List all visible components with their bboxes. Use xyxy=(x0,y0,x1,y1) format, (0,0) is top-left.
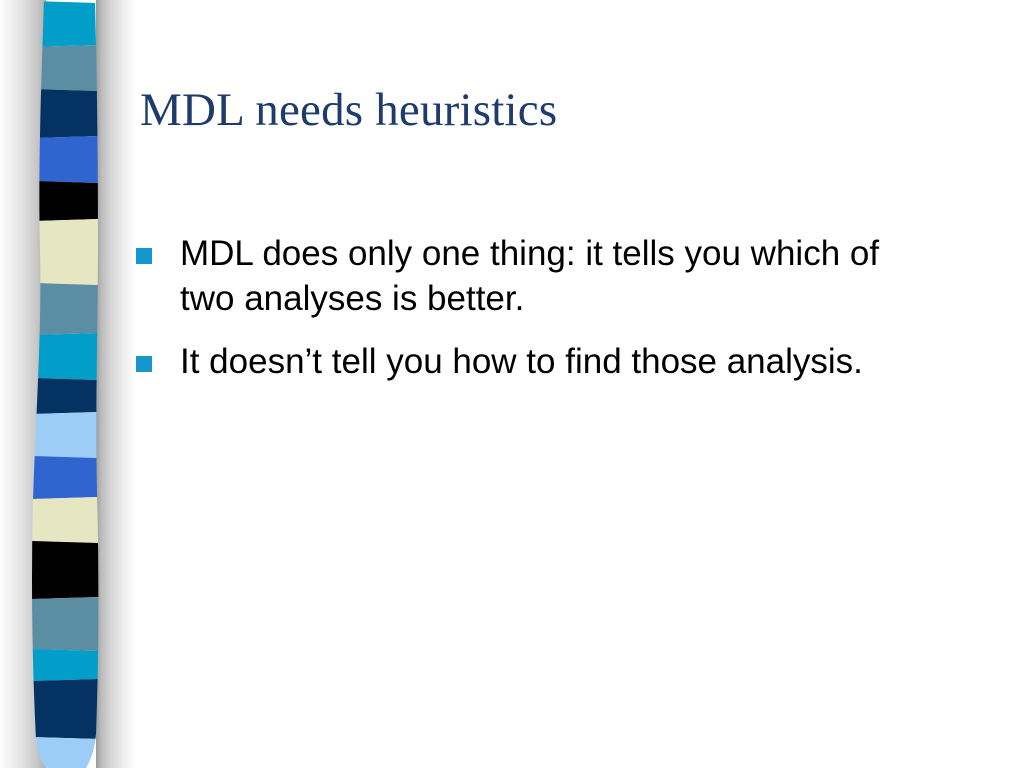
ribbon-band xyxy=(0,135,132,184)
ribbon-band xyxy=(0,0,132,48)
list-item: It doesn’t tell you how to find those an… xyxy=(136,340,956,385)
color-band-ribbon xyxy=(0,0,132,768)
ribbon-band xyxy=(0,180,132,222)
bullet-list: MDL does only one thing: it tells you wh… xyxy=(136,232,956,402)
ribbon-band xyxy=(0,648,132,682)
ribbon-band xyxy=(0,496,132,544)
ribbon-band xyxy=(0,218,132,286)
left-decoration xyxy=(0,0,132,768)
ribbon-band xyxy=(0,455,132,500)
ribbon-band xyxy=(0,411,132,459)
ribbon-band xyxy=(0,88,132,139)
ribbon-band xyxy=(0,332,132,381)
ribbon-band xyxy=(0,596,132,652)
list-item: MDL does only one thing: it tells you wh… xyxy=(136,232,956,322)
bullet-text: MDL does only one thing: it tells you wh… xyxy=(180,232,920,322)
ribbon-band xyxy=(0,540,132,600)
ribbon-band xyxy=(0,44,132,92)
slide-canvas: MDL needs heuristics MDL does only one t… xyxy=(0,0,1024,768)
ribbon-band xyxy=(0,282,132,336)
bullet-text: It doesn’t tell you how to find those an… xyxy=(180,340,920,385)
square-bullet-icon xyxy=(136,356,152,372)
ribbon-band xyxy=(0,736,132,768)
ribbon-band xyxy=(0,678,132,740)
ribbon-band xyxy=(0,377,132,415)
slide-title: MDL needs heuristics xyxy=(140,84,960,137)
ribbon-bands xyxy=(0,0,132,768)
square-bullet-icon xyxy=(136,248,152,264)
